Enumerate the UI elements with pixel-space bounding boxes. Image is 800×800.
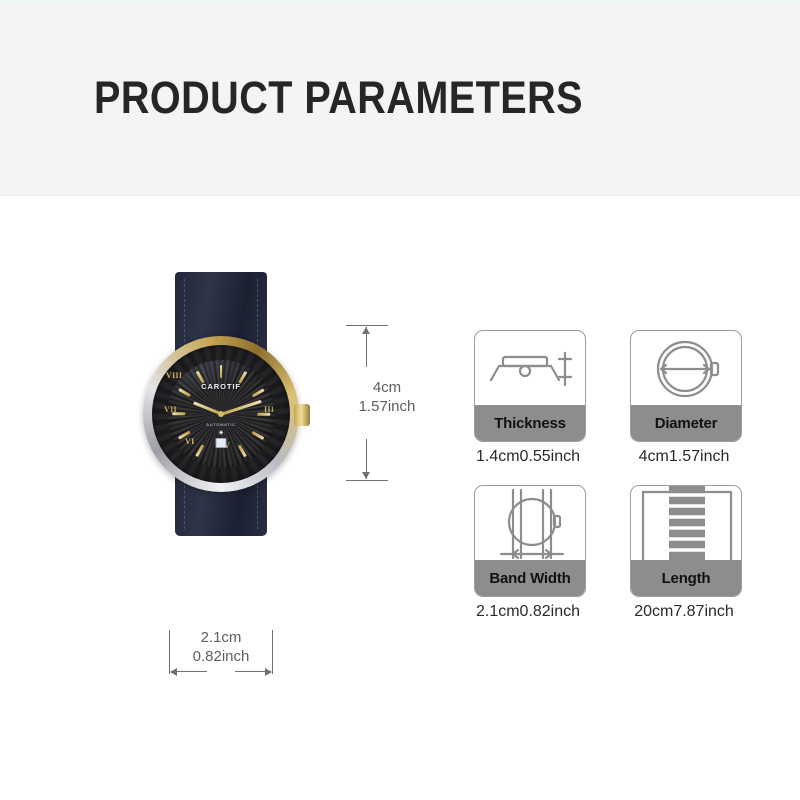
arrow-left-icon <box>170 668 177 676</box>
hour-marker <box>252 431 265 440</box>
spec-cards-grid: Thickness 1.4cm0.55inch <box>470 330 770 630</box>
spec-card-caption: 20cm7.87inch <box>614 603 754 621</box>
watch-crown-icon <box>294 404 310 426</box>
dimension-callout-vertical: 4cm 1.57inch <box>344 320 430 486</box>
spec-card-label: Band Width <box>475 560 585 596</box>
spec-card-caption: 4cm1.57inch <box>614 448 754 466</box>
hour-marker <box>172 413 185 416</box>
dimension-cap-top <box>346 325 388 326</box>
spec-card-label: Thickness <box>475 405 585 441</box>
product-parameters-page: PRODUCT PARAMETERS VIII VII VI V III <box>0 0 800 800</box>
hour-marker <box>195 445 204 458</box>
dimension-value-cm: 4cm <box>344 378 430 397</box>
arrow-right-icon <box>265 668 272 676</box>
dimension-value-inch: 1.57inch <box>344 397 430 416</box>
spec-card-caption: 2.1cm0.82inch <box>458 603 598 621</box>
dial-brand-text: CAROTIF <box>167 382 275 391</box>
wristwatch-photo: VIII VII VI V III CAROTIF AUT <box>128 272 314 534</box>
spec-card: Band Width <box>474 485 586 597</box>
dimension-label-vertical: 4cm 1.57inch <box>344 378 430 416</box>
arrow-down-icon <box>362 472 370 479</box>
dial-star-icon: ✷ <box>218 430 224 437</box>
hour-marker <box>238 445 247 458</box>
watch-case: VIII VII VI V III CAROTIF AUT <box>143 336 299 492</box>
dimension-value-cm: 2.1cm <box>166 628 276 647</box>
spec-card: Diameter <box>630 330 742 442</box>
spec-card-band-width: Band Width 2.1cm0.82inch <box>470 485 618 633</box>
arrow-up-icon <box>362 327 370 334</box>
spec-card-label: Length <box>631 560 741 596</box>
watch-side-profile-icon <box>475 331 585 407</box>
watch-lugs-band-icon <box>475 486 585 562</box>
date-window <box>216 438 227 448</box>
dimension-value-inch: 0.82inch <box>166 647 276 666</box>
spec-card: Thickness <box>474 330 586 442</box>
watch-case-circle-icon <box>631 331 741 407</box>
spec-card-length: Length 20cm7.87inch <box>626 485 774 633</box>
spec-card-label: Diameter <box>631 405 741 441</box>
dimension-label-horizontal: 2.1cm 0.82inch <box>166 628 276 666</box>
hands-center-cap <box>218 411 224 417</box>
page-header: PRODUCT PARAMETERS <box>0 0 800 196</box>
spec-card-caption: 1.4cm0.55inch <box>458 448 598 466</box>
hour-marker <box>220 365 223 378</box>
dimension-cap-bottom <box>346 480 388 481</box>
spec-card-thickness: Thickness 1.4cm0.55inch <box>470 330 618 478</box>
dimension-callout-horizontal: 2.1cm 0.82inch <box>166 628 276 682</box>
spec-card-diameter: Diameter 4cm1.57inch <box>626 330 774 478</box>
watch-dial: CAROTIF AUTOMATIC ✷ <box>167 360 275 468</box>
dial-movement-text: AUTOMATIC <box>167 422 275 427</box>
hour-marker <box>178 431 191 440</box>
hour-marker <box>257 413 270 416</box>
watch-strap-length-icon <box>631 486 741 562</box>
page-title: PRODUCT PARAMETERS <box>94 74 583 122</box>
spec-card: Length <box>630 485 742 597</box>
